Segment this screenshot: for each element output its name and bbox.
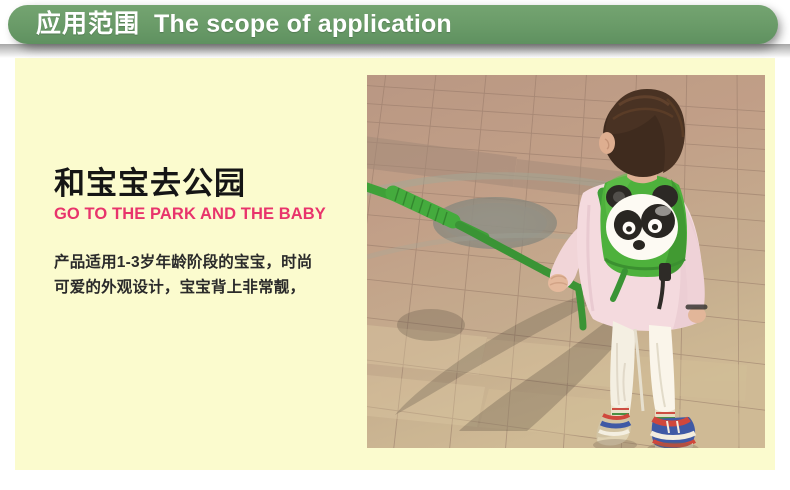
copy-subtitle: GO TO THE PARK AND THE BABY <box>54 205 354 224</box>
header-bar: 应用范围 The scope of application <box>8 5 778 44</box>
copy-body: 产品适用1-3岁年龄阶段的宝宝，时尚可爱的外观设计，宝宝背上非常靓， <box>54 250 324 300</box>
copy-title: 和宝宝去公园 <box>54 168 354 201</box>
header-drop-shadow-fade <box>0 44 790 58</box>
header-title-cn: 应用范围 <box>36 12 140 37</box>
header-title-en: The scope of application <box>154 12 452 37</box>
product-photo <box>367 75 765 448</box>
product-detail-page: 应用范围 The scope of application 和宝宝去公园 GO … <box>0 0 790 490</box>
section-header: 应用范围 The scope of application <box>0 0 790 58</box>
copy-block: 和宝宝去公园 GO TO THE PARK AND THE BABY 产品适用1… <box>54 168 354 300</box>
photo-illustration <box>367 75 765 448</box>
